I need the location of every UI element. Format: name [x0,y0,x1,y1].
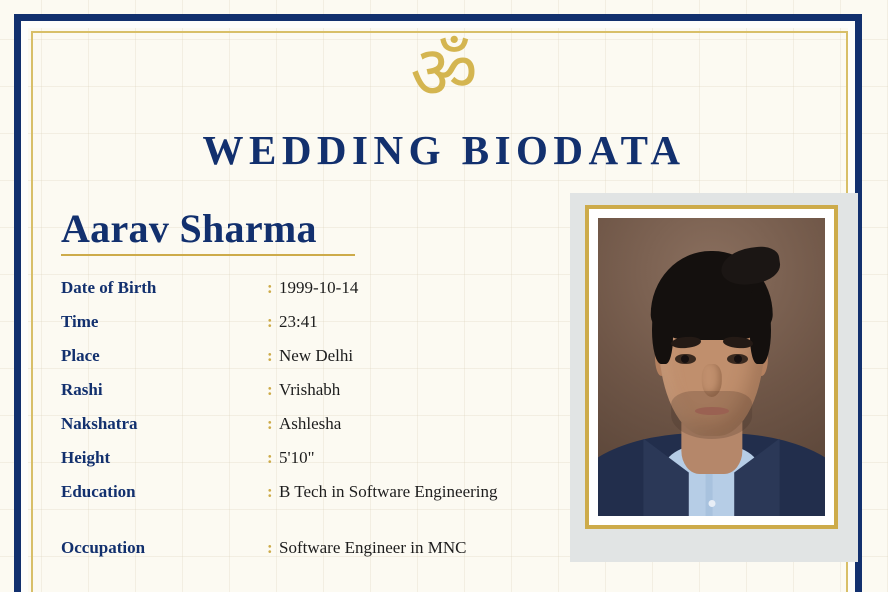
detail-row: Nakshatra : Ashlesha [61,413,561,447]
detail-colon: : [267,481,273,503]
detail-colon: : [267,413,273,435]
pupil-right [734,355,742,363]
detail-value: 23:41 [279,311,549,333]
detail-label: Height [61,447,110,469]
photo-mat [589,209,834,525]
detail-label: Nakshatra [61,413,138,435]
om-symbol-wrap: ॐ [0,36,888,110]
detail-colon: : [267,277,273,299]
detail-value: Software Engineer in MNC [279,537,549,559]
detail-label: Date of Birth [61,277,156,299]
nose [701,364,721,397]
detail-label: Education [61,481,136,503]
detail-row: Rashi : Vrishabh [61,379,561,413]
detail-label: Rashi [61,379,103,401]
person-name: Aarav Sharma [61,207,361,251]
wedding-biodata-page: ॐ WEDDING BIODATA Aarav Sharma Date of B… [0,0,888,592]
detail-label: Place [61,345,100,367]
detail-colon: : [267,345,273,367]
detail-value: Ashlesha [279,413,549,435]
mouth [694,407,728,415]
page-title: WEDDING BIODATA [0,126,888,174]
shirt-button [708,500,715,507]
detail-value: 1999-10-14 [279,277,549,299]
name-underline-rule [61,254,355,256]
detail-row: Time : 23:41 [61,311,561,345]
detail-value: Vrishabh [279,379,549,401]
detail-row: Education : B Tech in Software Engineeri… [61,481,561,537]
photo-frame [585,205,838,529]
detail-colon: : [267,537,273,559]
detail-label: Time [61,311,98,333]
detail-value: New Delhi [279,345,549,367]
portrait-photo [598,218,825,516]
detail-value: B Tech in Software Engineering [279,481,549,503]
detail-row: Place : New Delhi [61,345,561,379]
detail-row: Occupation : Software Engineer in MNC [61,537,561,571]
detail-colon: : [267,379,273,401]
hair-side-right [750,290,770,365]
om-icon: ॐ [410,36,478,110]
name-block: Aarav Sharma [61,207,361,256]
details-list: Date of Birth : 1999-10-14 Time : 23:41 … [61,277,561,571]
detail-colon: : [267,447,273,469]
hair-side-left [652,290,672,365]
detail-value: 5'10" [279,447,549,469]
detail-row: Height : 5'10" [61,447,561,481]
detail-row: Date of Birth : 1999-10-14 [61,277,561,311]
detail-label: Occupation [61,537,145,559]
detail-colon: : [267,311,273,333]
